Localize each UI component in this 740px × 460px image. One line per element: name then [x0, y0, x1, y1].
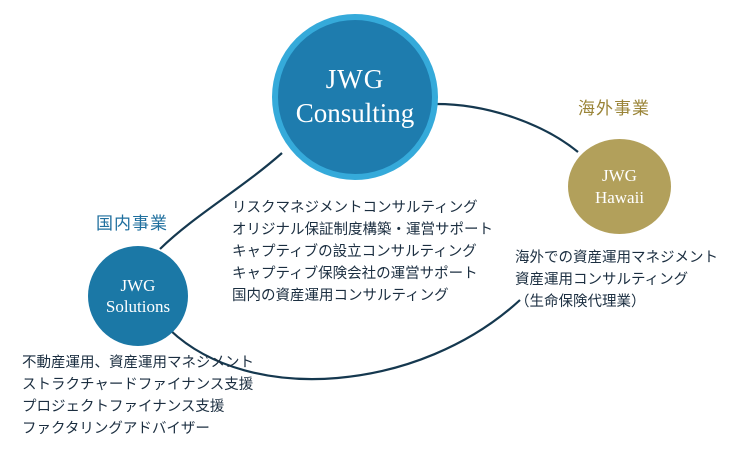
list-item: 海外での資産運用マネジメント [515, 247, 718, 269]
list-item: 不動産運用、資産運用マネジメント [22, 352, 254, 374]
list-item: ストラクチャードファイナンス支援 [22, 374, 254, 396]
list-item: オリジナル保証制度構築・運営サポート [232, 219, 493, 241]
label-overseas-business: 海外事業 [578, 94, 650, 119]
list-item: 国内の資産運用コンサルティング [232, 285, 493, 307]
list-item: 資産運用コンサルティング [515, 269, 718, 291]
list-item: キャプティブ保険会社の運営サポート [232, 263, 493, 285]
node-hawaii-line1: JWG [602, 165, 637, 186]
node-jwg-consulting[interactable]: JWG Consulting [272, 14, 438, 180]
list-item: （生命保険代理業） [515, 291, 718, 313]
list-item: リスクマネジメントコンサルティング [232, 197, 493, 219]
list-solutions-services: 不動産運用、資産運用マネジメント ストラクチャードファイナンス支援 プロジェクト… [22, 352, 254, 440]
list-item: ファクタリングアドバイザー [22, 418, 254, 440]
node-solutions-line2: Solutions [106, 296, 170, 317]
connector-consulting-to-hawaii [436, 104, 578, 152]
node-jwg-solutions[interactable]: JWG Solutions [88, 246, 188, 346]
node-consulting-line1: JWG [326, 63, 385, 97]
list-hawaii-services: 海外での資産運用マネジメント 資産運用コンサルティング （生命保険代理業） [515, 247, 718, 313]
node-hawaii-line2: Hawaii [595, 187, 644, 208]
node-solutions-line1: JWG [121, 275, 156, 296]
label-domestic-business: 国内事業 [96, 209, 168, 234]
list-item: プロジェクトファイナンス支援 [22, 396, 254, 418]
list-consulting-services: リスクマネジメントコンサルティング オリジナル保証制度構築・運営サポート キャプ… [232, 197, 493, 307]
node-consulting-line2: Consulting [296, 97, 415, 131]
node-jwg-hawaii[interactable]: JWG Hawaii [568, 139, 671, 234]
list-item: キャプティブの設立コンサルティング [232, 241, 493, 263]
business-structure-diagram: JWG Consulting JWG Solutions JWG Hawaii … [0, 0, 740, 460]
